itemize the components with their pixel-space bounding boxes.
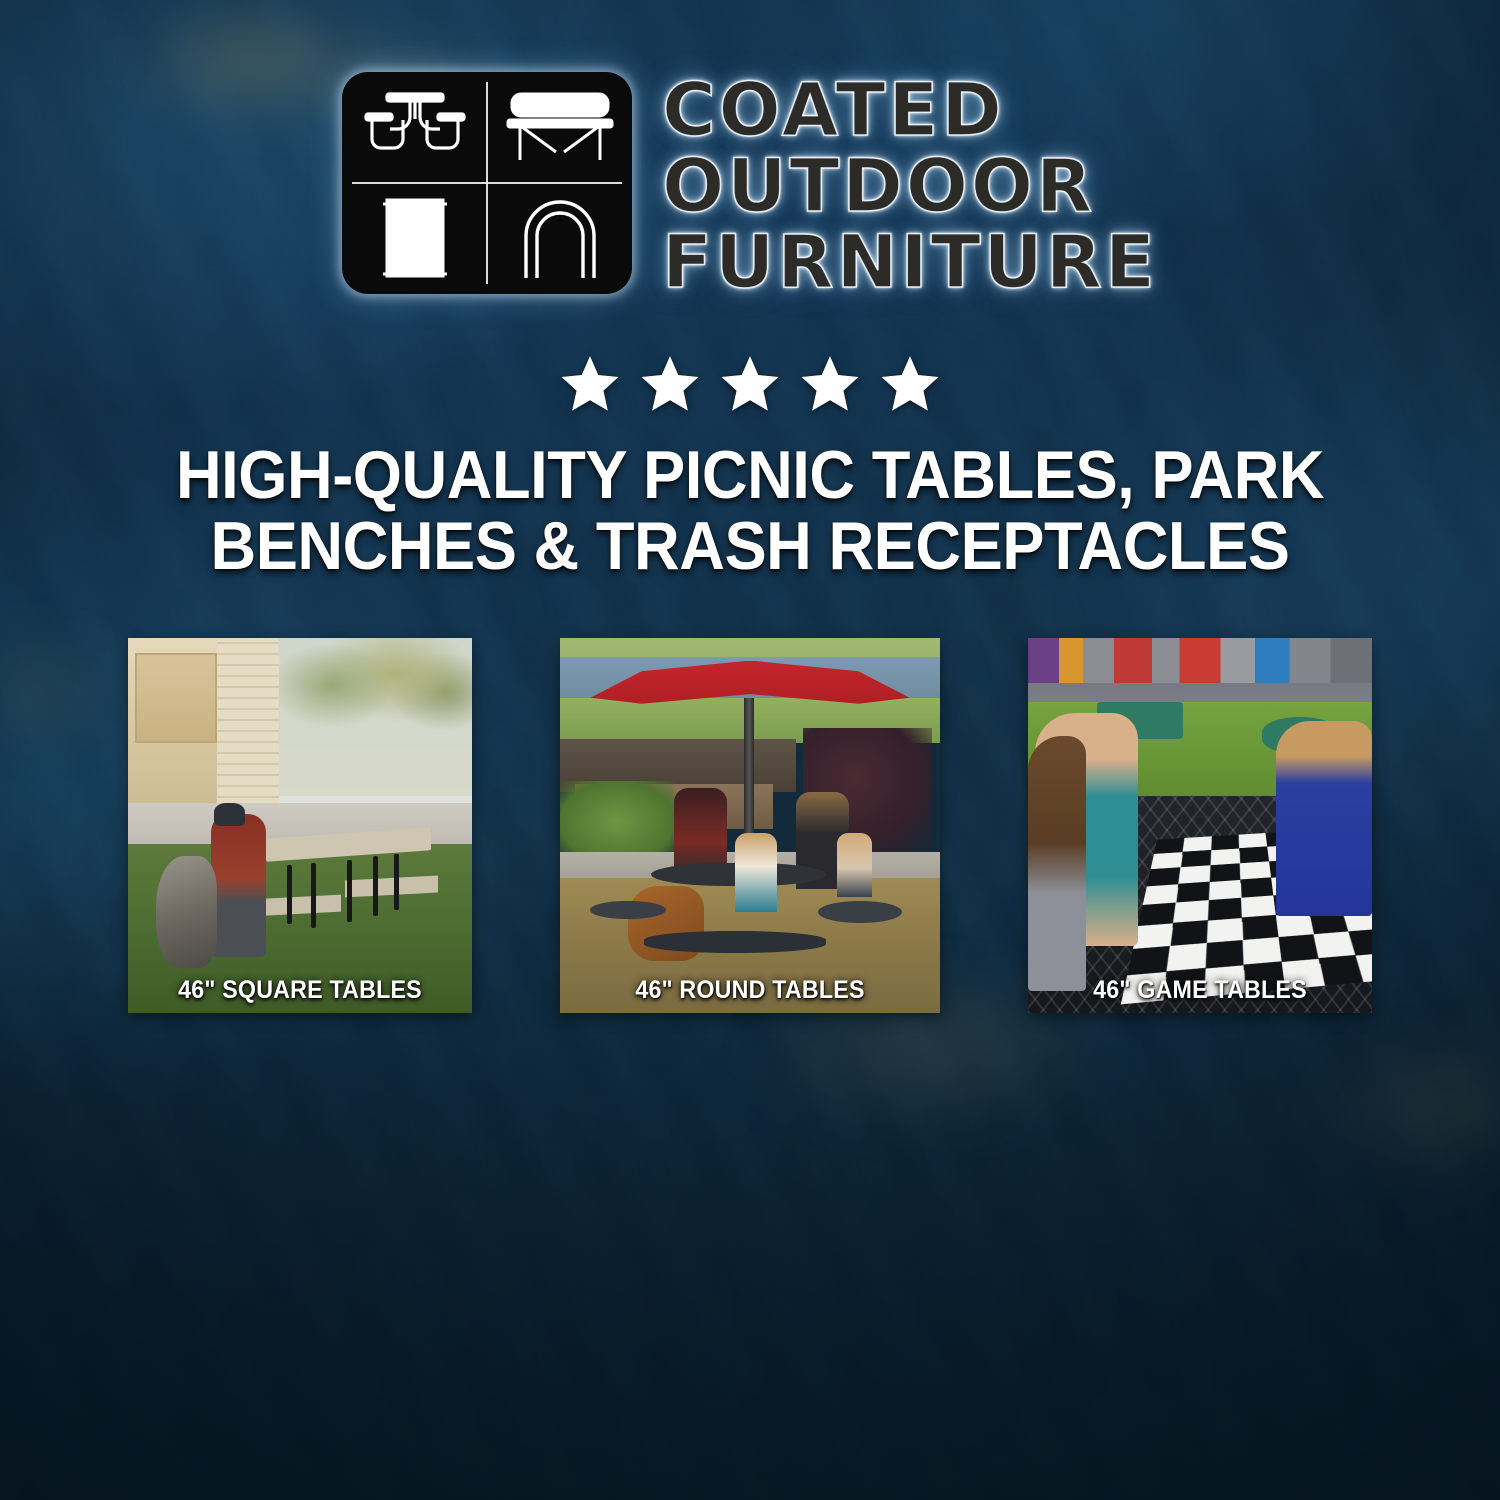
brand-line-2: OUTDOOR: [662, 152, 1158, 222]
logo-mark: [342, 72, 632, 294]
product-caption: 46" GAME TABLES: [1040, 977, 1360, 1004]
star-icon: [638, 352, 702, 414]
picnic-table-icon: [342, 72, 487, 183]
product-caption: 46" ROUND TABLES: [573, 977, 926, 1004]
product-grid: 46" SQUARE TABLES: [128, 638, 1372, 1428]
caption-line-1: 46" ROUND TABLES: [579, 977, 921, 1004]
star-icon: [718, 352, 782, 414]
caption-line-1: 46" SQUARE TABLES: [146, 977, 455, 1004]
brand-wordmark: COATED OUTDOOR FURNITURE: [662, 72, 1158, 298]
product-photo-game-tables: [1028, 638, 1372, 1013]
star-icon: [878, 352, 942, 414]
star-rating: [0, 352, 1500, 414]
park-bench-icon: [487, 72, 632, 183]
headline-line-1: HIGH-QUALITY PICNIC TABLES, PARK: [118, 440, 1383, 511]
brand-logo: COATED OUTDOOR FURNITURE: [0, 72, 1500, 298]
star-icon: [798, 352, 862, 414]
brand-line-3: FURNITURE: [662, 228, 1158, 298]
headline-line-2: BENCHES & TRASH RECEPTACLES: [118, 511, 1383, 582]
product-photo-square-tables: [128, 638, 472, 1013]
star-icon: [558, 352, 622, 414]
product-tile-square-tables[interactable]: 46" SQUARE TABLES: [128, 638, 472, 1013]
product-tile-game-tables[interactable]: 46" GAME TABLES: [1028, 638, 1372, 1013]
headline: HIGH-QUALITY PICNIC TABLES, PARK BENCHES…: [53, 440, 1448, 581]
bike-rack-icon: [487, 183, 632, 294]
product-photo-round-tables: [560, 638, 940, 1013]
caption-line-1: 46" GAME TABLES: [1046, 977, 1355, 1004]
trash-receptacle-icon: [342, 183, 487, 294]
product-caption: 46" SQUARE TABLES: [140, 977, 460, 1004]
brand-line-1: COATED: [662, 76, 1158, 146]
promo-banner: COATED OUTDOOR FURNITURE HIGH-QUALITY PI…: [0, 0, 1500, 1500]
product-tile-round-tables[interactable]: 46" ROUND TABLES: [560, 638, 940, 1013]
